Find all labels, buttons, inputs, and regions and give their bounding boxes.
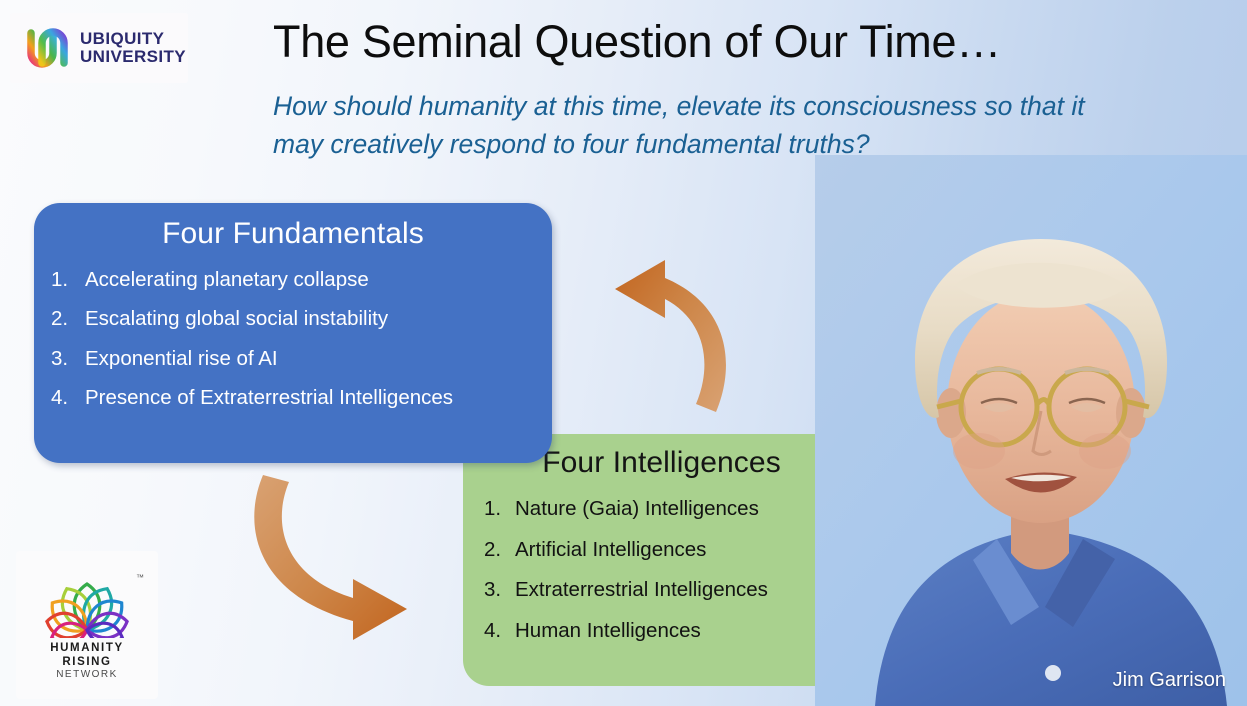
list-item-label: Artificial Intelligences — [515, 540, 706, 561]
list-item: 1. Accelerating planetary collapse — [51, 260, 552, 300]
speaker-portrait: Jim Garrison — [815, 155, 1247, 706]
ubiquity-university-logo: UBIQUITY UNIVERSITY — [10, 13, 188, 83]
list-item: 1. Nature (Gaia) Intelligences — [484, 489, 860, 530]
list-item-number: 3. — [51, 349, 85, 370]
list-item-label: Extraterrestrial Intelligences — [515, 580, 768, 601]
list-item: 4. Human Intelligences — [484, 611, 860, 652]
ubiquity-line-1: UBIQUITY — [80, 30, 186, 48]
list-item-number: 2. — [51, 309, 85, 330]
humanity-rising-wordmark: HUMANITY RISING NETWORK — [50, 641, 124, 681]
four-fundamentals-list: 1. Accelerating planetary collapse 2. Es… — [34, 260, 552, 418]
list-item: 2. Artificial Intelligences — [484, 530, 860, 571]
list-item-number: 1. — [51, 270, 85, 291]
list-item-label: Accelerating planetary collapse — [85, 270, 369, 291]
lotus-petals-icon: ™ — [28, 558, 146, 638]
list-item-number: 2. — [484, 540, 515, 561]
list-item-label: Exponential rise of AI — [85, 349, 278, 370]
humanity-line-1: HUMANITY — [50, 641, 124, 655]
list-item: 3. Extraterrestrial Intelligences — [484, 570, 860, 611]
curved-arrow-right-icon — [245, 455, 460, 650]
page-subtitle: How should humanity at this time, elevat… — [273, 88, 1093, 163]
four-fundamentals-panel: Four Fundamentals 1. Accelerating planet… — [34, 203, 552, 463]
speaker-portrait-image — [815, 155, 1247, 706]
list-item-number: 1. — [484, 499, 515, 520]
humanity-line-2: RISING — [50, 655, 124, 669]
ubiquity-u-mark-icon — [21, 23, 73, 73]
list-item-label: Presence of Extraterrestrial Intelligenc… — [85, 388, 453, 409]
ubiquity-line-2: UNIVERSITY — [80, 48, 186, 66]
four-intelligences-panel: Four Intelligences 1. Nature (Gaia) Inte… — [463, 434, 860, 686]
page-title: The Seminal Question of Our Time… — [273, 16, 1063, 68]
list-item-label: Escalating global social instability — [85, 309, 388, 330]
list-item: 3. Exponential rise of AI — [51, 339, 552, 379]
list-item: 4. Presence of Extraterrestrial Intellig… — [51, 379, 552, 419]
list-item-label: Human Intelligences — [515, 621, 701, 642]
curved-arrow-left-icon — [545, 252, 760, 447]
speaker-name-label: Jim Garrison — [1113, 669, 1226, 692]
four-fundamentals-heading: Four Fundamentals — [34, 203, 552, 251]
list-item-number: 4. — [484, 621, 515, 642]
humanity-rising-network-logo: ™ HUMANITY RISING NETWORK — [16, 551, 158, 699]
list-item-number: 3. — [484, 580, 515, 601]
trademark-symbol: ™ — [136, 573, 144, 582]
four-intelligences-list: 1. Nature (Gaia) Intelligences 2. Artifi… — [463, 489, 860, 651]
list-item-number: 4. — [51, 388, 85, 409]
list-item: 2. Escalating global social instability — [51, 300, 552, 340]
list-item-label: Nature (Gaia) Intelligences — [515, 499, 759, 520]
ubiquity-wordmark: UBIQUITY UNIVERSITY — [80, 30, 186, 66]
humanity-line-3: NETWORK — [50, 669, 124, 681]
